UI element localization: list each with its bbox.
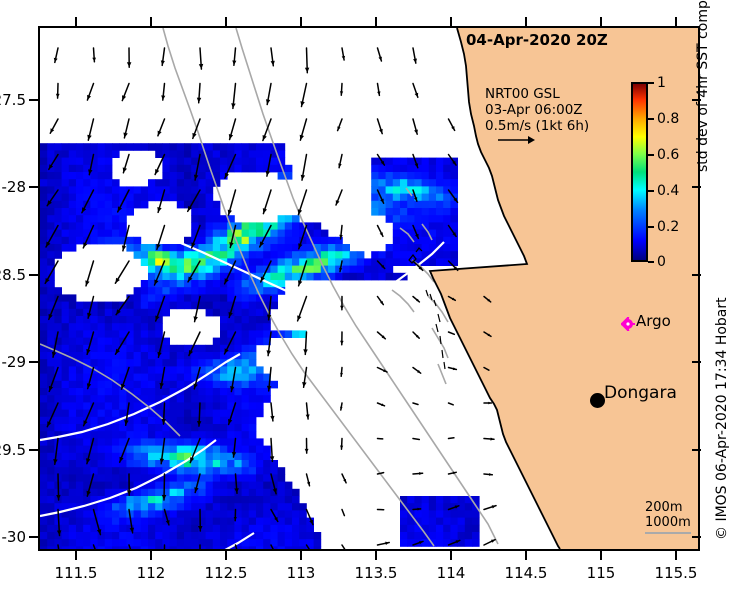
x-tick [450,551,452,560]
x-tick-label: 113.5 [355,564,398,582]
current-legend-line1: NRT00 GSL [485,86,589,102]
map-plot-area [38,26,700,551]
current-vector-legend: NRT00 GSL 03-Apr 06:00Z 0.5m/s (1kt 6h) [485,86,589,134]
y-tick [29,274,38,276]
x-tick [375,551,377,560]
y-tick [692,449,701,451]
figure-canvas: 111.5 112 112.5 113 113.5 114 114.5 115 … [0,0,739,592]
x-tick [300,17,302,26]
y-tick [692,361,701,363]
x-tick-label: 114.5 [505,564,548,582]
y-tick-label: -29 [0,353,26,371]
colorbar-tick-label: 0.4 [657,183,679,199]
x-tick-label: 115.5 [655,564,698,582]
x-tick-label: 111.5 [55,564,98,582]
y-tick [29,99,38,101]
y-tick-label: -28.5 [0,266,26,284]
colorbar-tick-label: 0.8 [657,111,679,127]
x-tick [600,17,602,26]
colorbar-title: std dev of 4hr SST comp [695,0,711,172]
colorbar-tick [648,154,654,156]
dongara-label: Dongara [604,383,677,403]
x-tick [525,551,527,560]
x-tick [525,17,527,26]
colorbar-tick [648,118,654,120]
depth-shallow-label: 200m [645,500,691,515]
y-tick [692,536,701,538]
current-legend-line2: 03-Apr 06:00Z [485,102,589,118]
y-tick [29,536,38,538]
colorbar-tick-label: 0.6 [657,147,679,163]
x-tick-label: 112 [137,564,166,582]
colorbar-tick [648,82,654,84]
x-tick [150,17,152,26]
date-stamp: 04-Apr-2020 20Z [466,31,608,49]
x-tick-label: 115 [587,564,616,582]
y-tick [692,186,701,188]
x-tick [75,551,77,560]
colorbar-tick-label: 1 [657,75,666,91]
colorbar-tick-label: 0.2 [657,219,679,235]
x-tick-label: 114 [437,564,466,582]
y-tick [692,274,701,276]
x-tick [675,17,677,26]
y-tick-label: -30 [0,528,26,546]
y-tick-label: -27.5 [0,91,26,109]
credit-text: © IMOS 06-Apr-2020 17:34 Hobart [714,297,730,540]
map-graphics [40,28,698,549]
y-tick [29,361,38,363]
y-tick [29,186,38,188]
reference-arrow-icon [497,131,537,150]
x-tick-label: 113 [287,564,316,582]
colorbar-tick-label: 0 [657,254,666,270]
x-tick [450,17,452,26]
town-dot-icon [590,393,605,408]
x-tick-label: 112.5 [205,564,248,582]
y-tick [29,449,38,451]
depth-key-rule [645,532,691,534]
argo-float-icon [621,316,635,335]
x-tick [675,551,677,560]
x-tick [75,17,77,26]
x-tick [375,17,377,26]
colorbar-gradient [631,82,648,262]
x-tick [600,551,602,560]
colorbar-tick [648,190,654,192]
x-tick [225,17,227,26]
x-tick [225,551,227,560]
colorbar-tick [648,226,654,228]
y-tick-label: -29.5 [0,441,26,459]
depth-deep-label: 1000m [645,515,691,530]
x-tick [300,551,302,560]
map-inner [40,28,698,549]
x-tick [150,551,152,560]
argo-label: Argo [636,312,671,330]
colorbar-tick [648,261,654,263]
depth-scale-key: 200m 1000m [645,500,691,534]
y-tick-label: -28 [0,178,26,196]
